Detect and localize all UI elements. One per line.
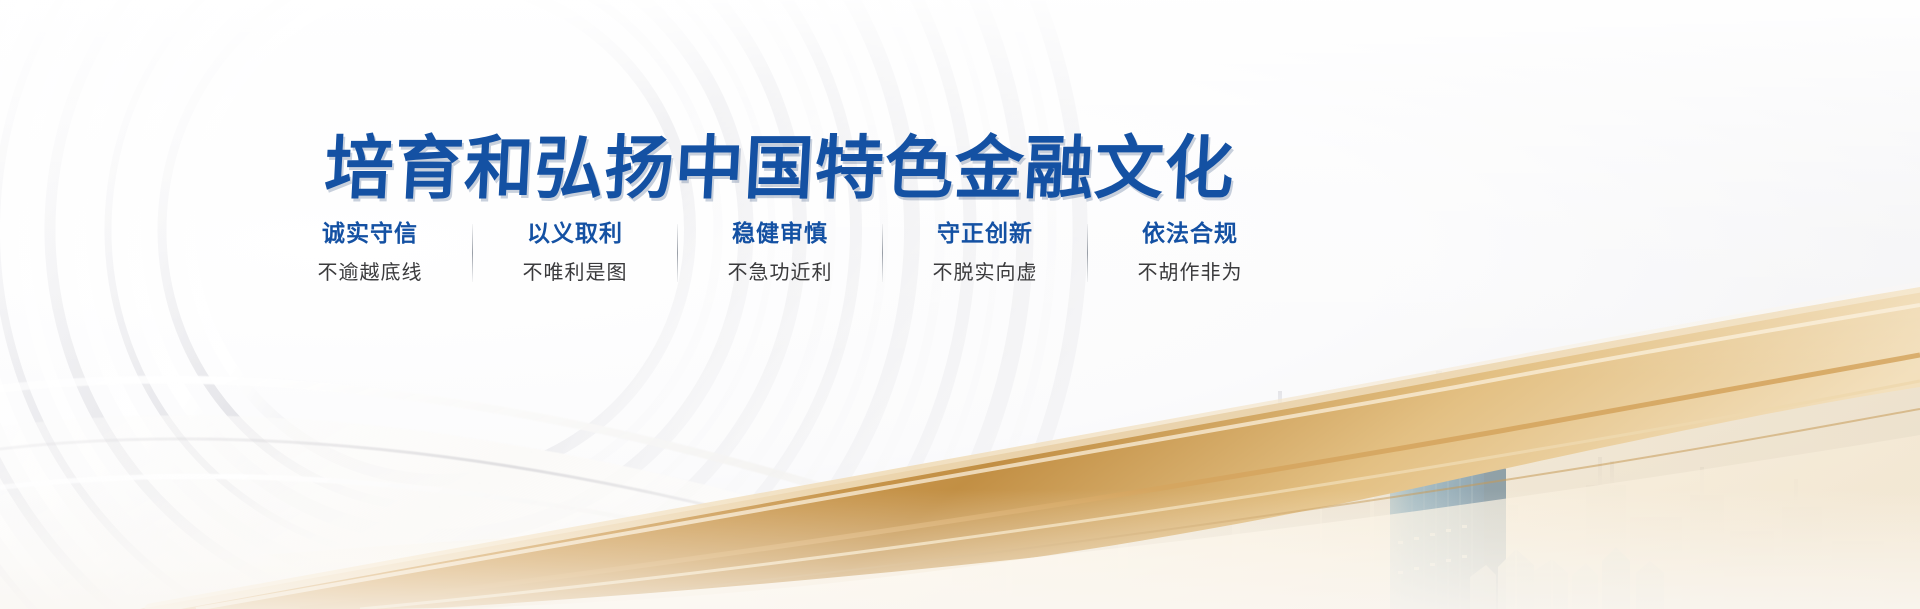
pillar-divider xyxy=(472,224,473,282)
pillar-item-5: 依法合规 不胡作非为 xyxy=(1115,222,1265,283)
pillar-subtext: 不逾越底线 xyxy=(318,261,423,283)
pillar-list: 诚实守信 不逾越底线 以义取利 不唯利是图 稳健审慎 不急功近利 守正创新 不脱… xyxy=(0,222,1560,283)
pillar-divider xyxy=(882,224,883,282)
pillar-item-1: 诚实守信 不逾越底线 xyxy=(295,222,445,283)
pillar-item-4: 守正创新 不脱实向虚 xyxy=(910,222,1060,283)
pillar-divider xyxy=(1087,224,1088,282)
pillar-subtext: 不脱实向虚 xyxy=(933,261,1038,283)
pillar-subtext: 不胡作非为 xyxy=(1138,261,1243,283)
page-title: 培育和弘扬中国特色金融文化 xyxy=(0,112,1563,212)
pillar-subtext: 不急功近利 xyxy=(728,261,833,283)
pillar-heading: 诚实守信 xyxy=(322,222,418,247)
pillar-heading: 以义取利 xyxy=(527,222,623,247)
pillar-heading: 守正创新 xyxy=(937,222,1033,247)
pillar-divider xyxy=(677,224,678,282)
pillar-heading: 稳健审慎 xyxy=(732,222,828,247)
pillar-subtext: 不唯利是图 xyxy=(523,261,628,283)
finance-culture-banner: 培育和弘扬中国特色金融文化 诚实守信 不逾越底线 以义取利 不唯利是图 稳健审慎… xyxy=(0,0,1920,609)
pillar-item-2: 以义取利 不唯利是图 xyxy=(500,222,650,283)
pillar-heading: 依法合规 xyxy=(1142,222,1238,247)
pillar-item-3: 稳健审慎 不急功近利 xyxy=(705,222,855,283)
